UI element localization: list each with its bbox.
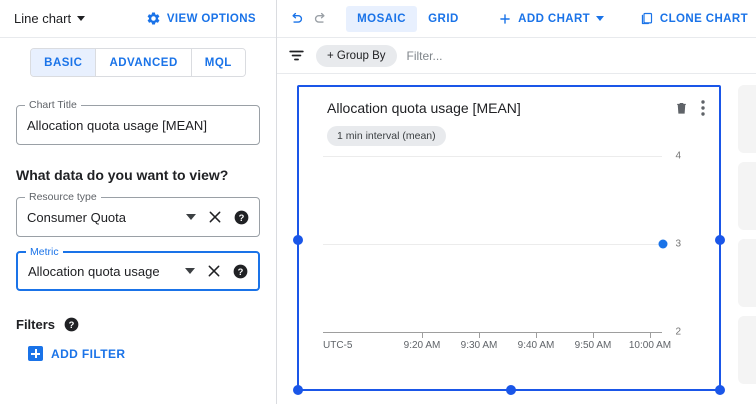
gridline-3: [323, 244, 662, 245]
clone-chart-label: CLONE CHART: [660, 13, 748, 25]
y-tick-label-3: 3: [675, 239, 681, 250]
clear-icon[interactable]: [208, 210, 222, 224]
chevron-down-icon[interactable]: [185, 268, 195, 274]
filter-list-icon[interactable]: [287, 46, 306, 65]
config-panel-header: Line chart VIEW OPTIONS: [0, 0, 276, 38]
chart-widget-title: Allocation quota usage [MEAN]: [327, 99, 674, 117]
tab-basic[interactable]: BASIC: [31, 49, 96, 76]
x-tick-mark: [650, 333, 651, 338]
svg-text:?: ?: [238, 266, 244, 276]
interval-chip: 1 min interval (mean): [327, 126, 446, 146]
resize-handle-bottom-left[interactable]: [293, 385, 303, 395]
add-filter-button[interactable]: ADD FILTER: [28, 346, 260, 361]
tab-mql-label: MQL: [205, 57, 232, 69]
mosaic-label: MOSAIC: [357, 13, 406, 25]
tab-basic-label: BASIC: [44, 57, 82, 69]
y-tick-label-4: 4: [675, 151, 681, 162]
grid-label: GRID: [428, 13, 459, 25]
timezone-label: UTC-5: [323, 340, 352, 351]
monitoring-chart-editor: Line chart VIEW OPTIONS BASIC ADVANCED M: [0, 0, 756, 404]
metric-label: Metric: [26, 246, 63, 258]
chart-config-panel: Line chart VIEW OPTIONS BASIC ADVANCED M: [0, 0, 277, 404]
tab-advanced[interactable]: ADVANCED: [96, 49, 191, 76]
filters-section: Filters ?: [16, 317, 260, 332]
chart-type-label: Line chart: [14, 11, 71, 26]
undo-icon: [288, 10, 305, 27]
filter-input[interactable]: Filter...: [407, 49, 443, 63]
undo-button[interactable]: [285, 4, 308, 34]
metric-field[interactable]: Metric Allocation quota usage ?: [16, 251, 260, 291]
help-icon[interactable]: ?: [64, 317, 79, 332]
resource-type-value: Consumer Quota: [27, 210, 180, 225]
clone-chart-button[interactable]: CLONE CHART: [631, 5, 756, 33]
filters-label: Filters: [16, 317, 55, 332]
view-options-button[interactable]: VIEW OPTIONS: [146, 11, 262, 26]
view-options-label: VIEW OPTIONS: [167, 13, 256, 25]
redo-icon: [312, 10, 329, 27]
chart-widget[interactable]: Allocation quota usage [MEAN] 1 min i: [297, 85, 721, 391]
plus-icon: [498, 12, 512, 26]
help-icon[interactable]: ?: [233, 264, 248, 279]
chart-data-point[interactable]: [659, 240, 668, 249]
add-chart-button[interactable]: ADD CHART: [490, 5, 612, 33]
chart-widget-header: Allocation quota usage [MEAN]: [299, 87, 719, 117]
resource-type-controls: ?: [186, 210, 249, 225]
chart-widget-actions: [674, 99, 705, 116]
resize-handle-bottom-center[interactable]: [506, 385, 516, 395]
x-tick-mark: [593, 333, 594, 338]
group-by-chip[interactable]: + Group By: [316, 45, 397, 67]
resource-type-field[interactable]: Resource type Consumer Quota ?: [16, 197, 260, 237]
x-tick-mark: [479, 333, 480, 338]
clear-icon[interactable]: [207, 264, 221, 278]
x-tick-mark: [422, 333, 423, 338]
gear-icon: [146, 11, 161, 26]
svg-text:?: ?: [239, 212, 245, 222]
layout-grid-button[interactable]: GRID: [417, 6, 470, 32]
chevron-down-icon[interactable]: [186, 214, 196, 220]
layout-mosaic-button[interactable]: MOSAIC: [346, 6, 417, 32]
tab-group: BASIC ADVANCED MQL: [30, 48, 246, 77]
config-form: Chart Title Allocation quota usage [MEAN…: [0, 77, 276, 361]
copy-icon: [639, 11, 654, 26]
tab-advanced-label: ADVANCED: [109, 57, 177, 69]
group-by-label: + Group By: [327, 50, 386, 62]
x-axis-line: [323, 332, 662, 333]
help-icon[interactable]: ?: [234, 210, 249, 225]
x-tick-mark: [536, 333, 537, 338]
y-tick-label-2: 2: [675, 327, 681, 338]
dashboard-toolbar: MOSAIC GRID ADD CHART CLONE CHART: [277, 0, 756, 38]
data-section-heading: What data do you want to view?: [16, 167, 260, 183]
gridline-4: [323, 156, 662, 157]
metric-controls: ?: [185, 264, 248, 279]
resize-handle-bottom-right[interactable]: [715, 385, 725, 395]
chevron-down-icon: [596, 16, 604, 21]
x-tick-label-2: 9:30 AM: [461, 340, 498, 351]
interval-chip-label: 1 min interval (mean): [337, 130, 436, 142]
plus-icon: [28, 346, 43, 361]
svg-text:?: ?: [69, 320, 75, 330]
chevron-down-icon: [77, 16, 85, 21]
dashboard-area: MOSAIC GRID ADD CHART CLONE CHART: [277, 0, 756, 404]
config-tabs: BASIC ADVANCED MQL: [0, 38, 276, 77]
kebab-menu-icon[interactable]: [701, 100, 705, 116]
dashboard-canvas: Allocation quota usage [MEAN] 1 min i: [277, 74, 756, 400]
redo-button[interactable]: [308, 4, 331, 34]
x-tick-label-3: 9:40 AM: [518, 340, 555, 351]
chart-type-dropdown[interactable]: Line chart: [14, 11, 85, 26]
x-tick-label-4: 9:50 AM: [575, 340, 612, 351]
ghost-card: [738, 162, 756, 230]
chart-title-field[interactable]: Chart Title Allocation quota usage [MEAN…: [16, 105, 260, 145]
trash-icon[interactable]: [674, 100, 689, 116]
x-tick-label-1: 9:20 AM: [404, 340, 441, 351]
add-chart-label: ADD CHART: [518, 13, 590, 25]
resource-type-label: Resource type: [25, 191, 101, 203]
add-filter-label: ADD FILTER: [51, 347, 125, 361]
ghost-card: [738, 239, 756, 307]
chart-title-value: Allocation quota usage [MEAN]: [27, 118, 249, 133]
chart-title-label: Chart Title: [25, 99, 81, 111]
x-tick-label-5: 10:00 AM: [629, 340, 671, 351]
tab-mql[interactable]: MQL: [192, 49, 245, 76]
chart-plot-area: 4 3 2 UTC-5 9:20 AM 9:30 AM: [299, 156, 719, 356]
group-by-filter-bar: + Group By Filter...: [277, 38, 756, 74]
ghost-card-column: [738, 85, 756, 393]
ghost-card: [738, 316, 756, 384]
ghost-card: [738, 85, 756, 153]
metric-value: Allocation quota usage: [28, 264, 179, 279]
